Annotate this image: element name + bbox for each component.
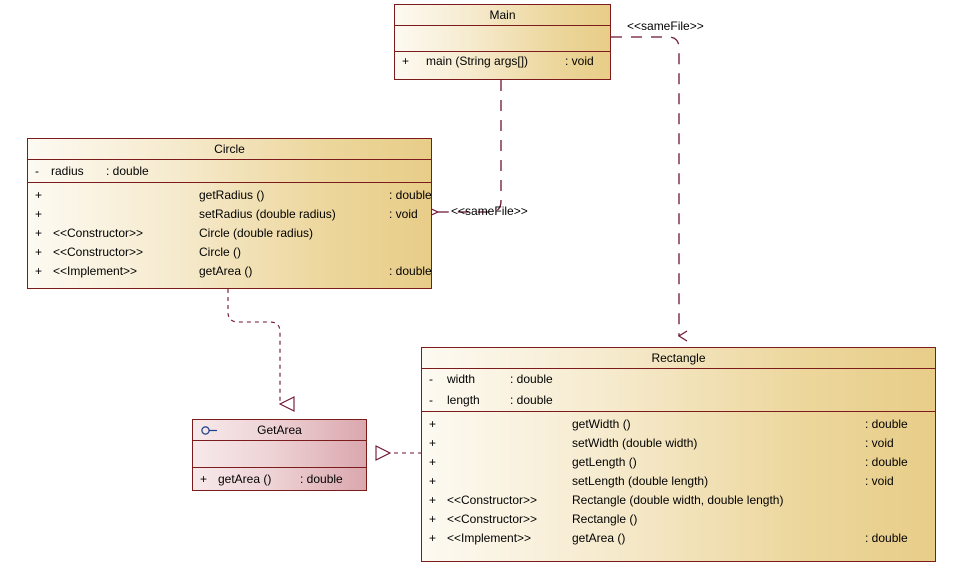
edge-main-to-circle xyxy=(438,80,501,212)
member-visibility: - xyxy=(35,160,47,182)
member-row[interactable]: + getWidth () : double xyxy=(422,415,935,434)
member-row[interactable]: + <<Constructor>> Rectangle (double widt… xyxy=(422,491,935,510)
member-visibility: + xyxy=(35,243,47,262)
class-attributes-circle: - radius : double xyxy=(28,160,431,183)
member-visibility: + xyxy=(402,52,414,71)
class-box-getarea[interactable]: GetArea + getArea () : double xyxy=(192,419,367,491)
edge-main-to-rectangle xyxy=(611,37,679,336)
member-stereotype: <<Implement>> xyxy=(447,529,531,548)
member-name: setRadius (double radius) xyxy=(199,205,336,224)
member-type: : void xyxy=(865,434,894,453)
member-row[interactable]: - radius : double xyxy=(28,160,431,182)
class-name-rectangle: Rectangle xyxy=(422,348,935,369)
member-type: : void xyxy=(389,205,418,224)
member-name: getWidth () xyxy=(572,415,631,434)
member-row[interactable]: + setWidth (double width) : void xyxy=(422,434,935,453)
member-visibility: + xyxy=(429,472,441,491)
class-operations-rectangle: + getWidth () : double + setWidth (doubl… xyxy=(422,412,935,548)
member-stereotype: <<Constructor>> xyxy=(53,224,143,243)
member-stereotype: <<Constructor>> xyxy=(447,510,537,529)
member-type: : double xyxy=(389,186,432,205)
member-visibility: + xyxy=(429,434,441,453)
member-visibility: + xyxy=(429,510,441,529)
member-name: width xyxy=(447,369,475,390)
class-attributes-main xyxy=(395,26,610,52)
class-box-main[interactable]: Main + main (String args[]) : void xyxy=(394,4,611,80)
class-attributes-rectangle: - width : double - length : double xyxy=(422,369,935,412)
member-stereotype: <<Implement>> xyxy=(53,262,137,281)
class-name-getarea: GetArea xyxy=(193,420,366,441)
member-type: : double xyxy=(865,529,908,548)
member-row[interactable]: - width : double xyxy=(422,369,935,390)
member-name: setLength (double length) xyxy=(572,472,708,491)
member-name: main (String args[]) xyxy=(426,52,528,71)
class-name-circle: Circle xyxy=(28,139,431,160)
member-visibility: + xyxy=(200,470,212,489)
member-stereotype: <<Constructor>> xyxy=(447,491,537,510)
member-name: length xyxy=(447,390,480,411)
member-row[interactable]: + setRadius (double radius) : void xyxy=(28,205,431,224)
member-name: getArea () xyxy=(199,262,252,281)
class-name-main: Main xyxy=(395,5,610,26)
member-visibility: + xyxy=(429,415,441,434)
member-visibility: + xyxy=(429,529,441,548)
member-row[interactable]: + <<Constructor>> Circle () xyxy=(28,243,431,262)
member-type: : double xyxy=(510,390,553,411)
member-row[interactable]: + main (String args[]) : void xyxy=(395,52,610,71)
member-name: getArea () xyxy=(218,470,271,489)
member-row[interactable]: + setLength (double length) : void xyxy=(422,472,935,491)
class-operations-circle: + getRadius () : double + setRadius (dou… xyxy=(28,183,431,281)
member-row[interactable]: + getArea () : double xyxy=(193,470,366,489)
member-row[interactable]: + <<Implement>> getArea () : double xyxy=(422,529,935,548)
member-row[interactable]: + <<Constructor>> Circle (double radius) xyxy=(28,224,431,243)
member-type: : double xyxy=(389,262,432,281)
edge-label-main-to-rectangle: <<sameFile>> xyxy=(627,19,704,33)
edge-circle-to-getarea xyxy=(228,289,280,404)
member-type: : double xyxy=(106,160,149,182)
class-box-rectangle[interactable]: Rectangle - width : double - length : do… xyxy=(421,347,936,562)
member-name: getRadius () xyxy=(199,186,264,205)
member-stereotype: <<Constructor>> xyxy=(53,243,143,262)
member-type: : double xyxy=(300,470,343,489)
member-visibility: - xyxy=(429,369,441,390)
member-type: : void xyxy=(565,52,594,71)
member-visibility: + xyxy=(429,491,441,510)
uml-diagram-canvas: <<sameFile>> <<sameFile>> Main + main (S… xyxy=(0,0,954,568)
member-visibility: + xyxy=(429,453,441,472)
member-row[interactable]: + getLength () : double xyxy=(422,453,935,472)
class-attributes-getarea xyxy=(193,441,366,468)
member-visibility: + xyxy=(35,262,47,281)
member-name: setWidth (double width) xyxy=(572,434,697,453)
member-name: Rectangle () xyxy=(572,510,637,529)
member-type: : double xyxy=(865,453,908,472)
member-name: Circle () xyxy=(199,243,241,262)
member-name: Rectangle (double width, double length) xyxy=(572,491,783,510)
member-row[interactable]: + <<Implement>> getArea () : double xyxy=(28,262,431,281)
member-type: : double xyxy=(865,415,908,434)
member-type: : double xyxy=(510,369,553,390)
member-row[interactable]: + <<Constructor>> Rectangle () xyxy=(422,510,935,529)
class-box-circle[interactable]: Circle - radius : double + getRadius () … xyxy=(27,138,432,289)
member-row[interactable]: - length : double xyxy=(422,390,935,411)
member-visibility: - xyxy=(429,390,441,411)
class-operations-getarea: + getArea () : double xyxy=(193,468,366,489)
member-type: : void xyxy=(865,472,894,491)
interface-lollipop-icon xyxy=(201,426,218,435)
member-visibility: + xyxy=(35,205,47,224)
member-name: getArea () xyxy=(572,529,625,548)
class-name-label: GetArea xyxy=(257,423,302,437)
member-name: getLength () xyxy=(572,453,637,472)
member-name: Circle (double radius) xyxy=(199,224,313,243)
class-operations-main: + main (String args[]) : void xyxy=(395,52,610,71)
edge-label-main-to-circle: <<sameFile>> xyxy=(451,204,528,218)
member-name: radius xyxy=(51,160,84,182)
member-row[interactable]: + getRadius () : double xyxy=(28,186,431,205)
member-visibility: + xyxy=(35,224,47,243)
member-visibility: + xyxy=(35,186,47,205)
